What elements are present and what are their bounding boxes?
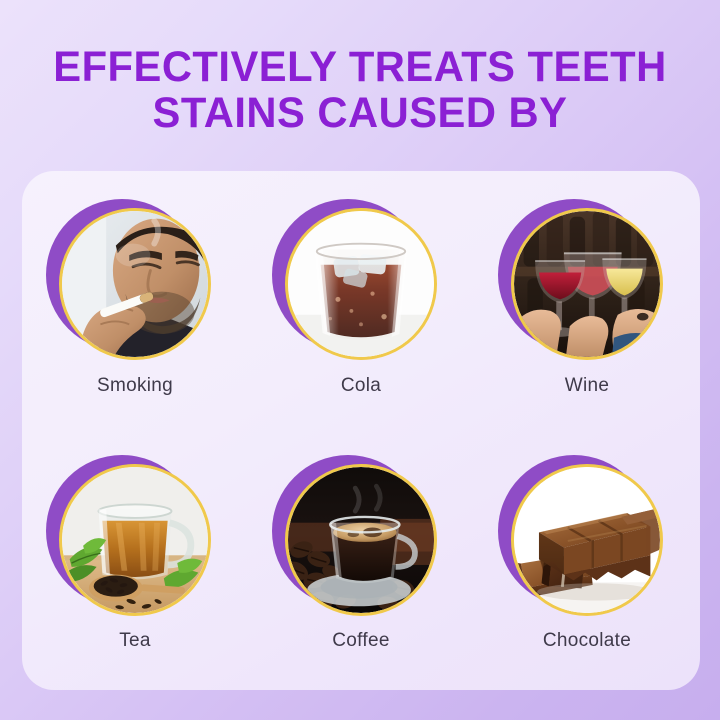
tea-photo bbox=[62, 467, 208, 613]
grid-item-coffee[interactable]: Coffee bbox=[248, 431, 474, 691]
item-label-coffee: Coffee bbox=[332, 630, 389, 652]
smoking-photo bbox=[62, 211, 208, 357]
gold-ring-border bbox=[59, 208, 211, 360]
headline-line-2: STAINS CAUSED BY bbox=[11, 90, 709, 136]
item-label-wine: Wine bbox=[565, 375, 610, 397]
cola-photo bbox=[288, 211, 434, 357]
gold-ring-border bbox=[285, 464, 437, 616]
medallion-chocolate bbox=[511, 464, 663, 616]
wine-photo bbox=[514, 211, 660, 357]
item-label-chocolate: Chocolate bbox=[543, 630, 631, 652]
medallion-tea bbox=[59, 464, 211, 616]
gold-ring-border bbox=[285, 208, 437, 360]
gold-ring-border bbox=[511, 208, 663, 360]
item-label-cola: Cola bbox=[341, 375, 381, 397]
content-panel: Smoking bbox=[22, 171, 700, 690]
page-title: EFFECTIVELY TREATS TEETH STAINS CAUSED B… bbox=[0, 44, 720, 136]
item-label-tea: Tea bbox=[119, 630, 151, 652]
grid-item-wine[interactable]: Wine bbox=[474, 171, 700, 431]
medallion-wine bbox=[511, 208, 663, 360]
coffee-photo bbox=[288, 467, 434, 613]
gold-ring-border bbox=[59, 464, 211, 616]
grid-item-smoking[interactable]: Smoking bbox=[22, 171, 248, 431]
stain-cause-grid: Smoking bbox=[22, 171, 700, 690]
medallion-cola bbox=[285, 208, 437, 360]
medallion-coffee bbox=[285, 464, 437, 616]
item-label-smoking: Smoking bbox=[97, 375, 173, 397]
headline-line-1: EFFECTIVELY TREATS TEETH bbox=[11, 44, 709, 90]
chocolate-photo bbox=[514, 467, 660, 613]
gold-ring-border bbox=[511, 464, 663, 616]
grid-item-cola[interactable]: Cola bbox=[248, 171, 474, 431]
grid-item-tea[interactable]: Tea bbox=[22, 431, 248, 691]
grid-item-chocolate[interactable]: Chocolate bbox=[474, 431, 700, 691]
poster-canvas: EFFECTIVELY TREATS TEETH STAINS CAUSED B… bbox=[0, 0, 720, 720]
medallion-smoking bbox=[59, 208, 211, 360]
